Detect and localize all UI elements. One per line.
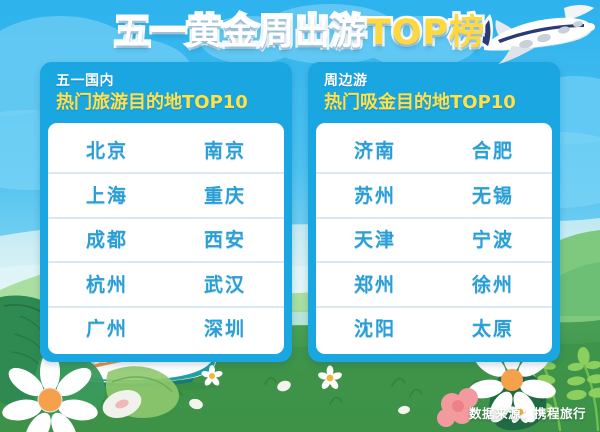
poster-title: 五一黄金周出游TOP榜: [0, 8, 600, 62]
table-row: 北京 南京: [48, 130, 284, 170]
city-cell: 徐州: [434, 270, 552, 297]
title-segment-yellow: TOP榜: [367, 8, 485, 58]
city-cell: 无锡: [434, 181, 552, 208]
table-row: 上海 重庆: [48, 172, 284, 214]
city-cell: 天津: [316, 225, 434, 252]
table-row: 广州 深圳: [48, 306, 284, 348]
table-row: 沈阳 太原: [316, 306, 552, 348]
card-domestic-title: 五一国内: [56, 73, 276, 90]
table-row: 天津 宁波: [316, 217, 552, 259]
city-cell: 合肥: [434, 136, 552, 163]
data-source-note: 数据来源：携程旅行: [469, 403, 586, 422]
infographic-poster: 五一黄金周出游TOP榜 五一国内 热门旅游目的地TOP10 北京 南京 上海 重…: [0, 0, 600, 432]
title-segment-white: 五一黄金周出游: [115, 8, 367, 58]
table-row: 济南 合肥: [316, 130, 552, 170]
city-cell: 武汉: [166, 270, 284, 297]
city-cell: 上海: [48, 181, 166, 208]
card-surrounding-subtitle: 热门吸金目的地TOP10: [324, 92, 544, 114]
city-cell: 成都: [48, 225, 166, 252]
city-cell: 郑州: [316, 270, 434, 297]
city-cell: 宁波: [434, 225, 552, 252]
city-cell: 杭州: [48, 270, 166, 297]
table-row: 杭州 武汉: [48, 261, 284, 303]
table-row: 郑州 徐州: [316, 261, 552, 303]
card-surrounding-list: 济南 合肥 苏州 无锡 天津 宁波 郑州 徐州 沈阳 太原: [316, 123, 552, 354]
city-cell: 北京: [48, 136, 166, 163]
city-cell: 济南: [316, 136, 434, 163]
city-cell: 太原: [434, 314, 552, 341]
city-cell: 沈阳: [316, 314, 434, 341]
city-cell: 重庆: [166, 181, 284, 208]
table-row: 苏州 无锡: [316, 172, 552, 214]
city-cell: 深圳: [166, 314, 284, 341]
card-domestic-header: 五一国内 热门旅游目的地TOP10: [40, 73, 292, 123]
card-surrounding-title: 周边游: [324, 73, 544, 90]
card-surrounding-header: 周边游 热门吸金目的地TOP10: [308, 73, 560, 123]
city-cell: 广州: [48, 314, 166, 341]
city-cell: 西安: [166, 225, 284, 252]
card-domestic: 五一国内 热门旅游目的地TOP10 北京 南京 上海 重庆 成都 西安 杭州: [40, 62, 292, 362]
card-surrounding: 周边游 热门吸金目的地TOP10 济南 合肥 苏州 无锡 天津 宁波 郑州: [308, 62, 560, 362]
city-cell: 苏州: [316, 181, 434, 208]
table-row: 成都 西安: [48, 217, 284, 259]
card-domestic-subtitle: 热门旅游目的地TOP10: [56, 92, 276, 114]
city-cell: 南京: [166, 136, 284, 163]
ranking-cards: 五一国内 热门旅游目的地TOP10 北京 南京 上海 重庆 成都 西安 杭州: [0, 62, 600, 362]
card-domestic-list: 北京 南京 上海 重庆 成都 西安 杭州 武汉 广州 深圳: [48, 123, 284, 354]
